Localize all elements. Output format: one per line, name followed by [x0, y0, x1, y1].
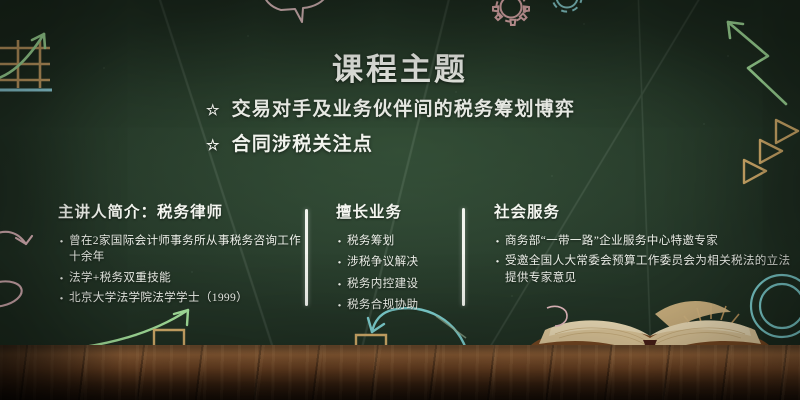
- column-heading: 主讲人简介：税务律师: [58, 200, 306, 222]
- table-left-shadow: [0, 345, 120, 400]
- column-heading: 社会服务: [494, 200, 794, 222]
- bullet-list: 曾在2家国际会计师事务所从事税务咨询工作十余年 法学+税务双重技能 北京大学法学…: [58, 233, 306, 307]
- triangle-cascade-icon: [716, 98, 800, 208]
- subtitle-text: 交易对手及业务伙伴间的税务筹划博弈: [232, 94, 575, 121]
- bullet-list: 商务部“一带一路”企业服务中心特邀专家 受邀全国人大常委会预算工作委员会为相关税…: [494, 233, 794, 286]
- subtitle-list: ☆ 交易对手及业务伙伴间的税务筹划博弈 ☆ 合同涉税关注点: [206, 94, 575, 164]
- hollow-star-icon: ☆: [206, 104, 221, 119]
- list-item: 涉税争议解决: [336, 254, 462, 270]
- list-item: 受邀全国人大常委会预算工作委员会为相关税法的立法提供专家意见: [494, 253, 794, 286]
- list-item: 北京大学法学院法学学士（1999）: [58, 290, 306, 306]
- page-title: 课程主题: [0, 44, 800, 89]
- list-item: 曾在2家国际会计师事务所从事税务咨询工作十余年: [58, 233, 306, 266]
- gear-icon-cyan: [544, 0, 590, 20]
- subtitle-item: ☆ 交易对手及业务伙伴间的税务筹划博弈: [206, 94, 575, 121]
- list-item: 商务部“一带一路”企业服务中心特邀专家: [494, 233, 794, 249]
- wooden-table-surface: [0, 345, 800, 400]
- list-item: 税务合规协助: [336, 297, 462, 313]
- presentation-slide: 课程主题 ☆ 交易对手及业务伙伴间的税务筹划博弈 ☆ 合同涉税关注点 主讲人简介…: [0, 0, 800, 400]
- list-item: 税务内控建设: [336, 276, 462, 292]
- column-social-service: 社会服务 商务部“一带一路”企业服务中心特邀专家 受邀全国人大常委会预算工作委员…: [494, 200, 794, 290]
- list-item: 法学+税务双重技能: [58, 270, 306, 286]
- list-item: 税务筹划: [336, 233, 462, 249]
- column-speaker-profile: 主讲人简介：税务律师 曾在2家国际会计师事务所从事税务咨询工作十余年 法学+税务…: [58, 200, 306, 311]
- gear-icon-pink: [488, 0, 534, 30]
- speech-bubble-icon: [255, 0, 365, 30]
- column-heading: 擅长业务: [336, 200, 462, 222]
- table-shading: [0, 345, 800, 400]
- column-specialties: 擅长业务 税务筹划 涉税争议解决 税务内控建设 税务合规协助: [336, 200, 462, 319]
- subtitle-text: 合同涉税关注点: [232, 129, 373, 156]
- bullet-list: 税务筹划 涉税争议解决 税务内控建设 税务合规协助: [336, 233, 462, 314]
- hollow-star-icon: ☆: [206, 139, 221, 154]
- subtitle-item: ☆ 合同涉税关注点: [206, 129, 575, 156]
